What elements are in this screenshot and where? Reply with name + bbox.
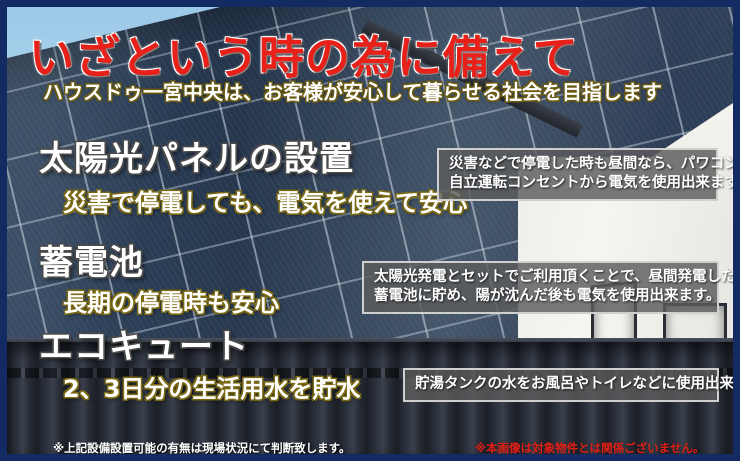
text-overlay: いざという時の為に備えて ハウスドゥ一宮中央は、お客様が安心して暮らせる社会を目… <box>7 7 733 454</box>
feature-subheading-storage-battery: 長期の停電時も安心 <box>63 283 279 318</box>
callout-ecocute: 貯湯タンクの水をお風呂やトイレなどに使用出来ます。 <box>403 368 719 402</box>
callout-solar-panel: 災害などで停電した時も昼間なら、パワコンの 自立運転コンセントから電気を使用出来… <box>437 148 718 201</box>
callout-line: 蓄電池に貯め、陽が沈んだ後も電気を使用出来ます。 <box>374 287 707 306</box>
banner-subtitle: ハウスドゥ一宮中央は、お客様が安心して暮らせる社会を目指します <box>43 76 662 105</box>
feature-subheading-solar-panel: 災害で停電しても、電気を使えて安心 <box>63 183 467 218</box>
callout-line: 災害などで停電した時も昼間なら、パワコンの <box>449 155 706 174</box>
callout-line: 貯湯タンクの水をお風呂やトイレなどに使用出来ます。 <box>415 375 707 394</box>
feature-heading-ecocute: エコキュート <box>39 319 249 368</box>
banner-stage: いざという時の為に備えて ハウスドゥ一宮中央は、お客様が安心して暮らせる社会を目… <box>7 7 733 454</box>
callout-line: 太陽光発電とセットでご利用頂くことで、昼間発電した電気を <box>374 268 707 287</box>
feature-heading-storage-battery: 蓄電池 <box>39 235 144 284</box>
disclaimer-note-left: ※上記設備設置可能の有無は現場状況にて判断致します。 <box>53 440 351 454</box>
disclaimer-note-right: ※本画像は対象物件とは関係ございません。 <box>475 440 704 454</box>
feature-heading-solar-panel: 太陽光パネルの設置 <box>39 131 354 180</box>
feature-subheading-ecocute: 2、3日分の生活用水を貯水 <box>63 369 360 404</box>
callout-line: 自立運転コンセントから電気を使用出来ます。 <box>449 174 706 193</box>
promo-banner: いざという時の為に備えて ハウスドゥ一宮中央は、お客様が安心して暮らせる社会を目… <box>0 0 740 461</box>
callout-storage-battery: 太陽光発電とセットでご利用頂くことで、昼間発電した電気を 蓄電池に貯め、陽が沈ん… <box>362 261 719 314</box>
